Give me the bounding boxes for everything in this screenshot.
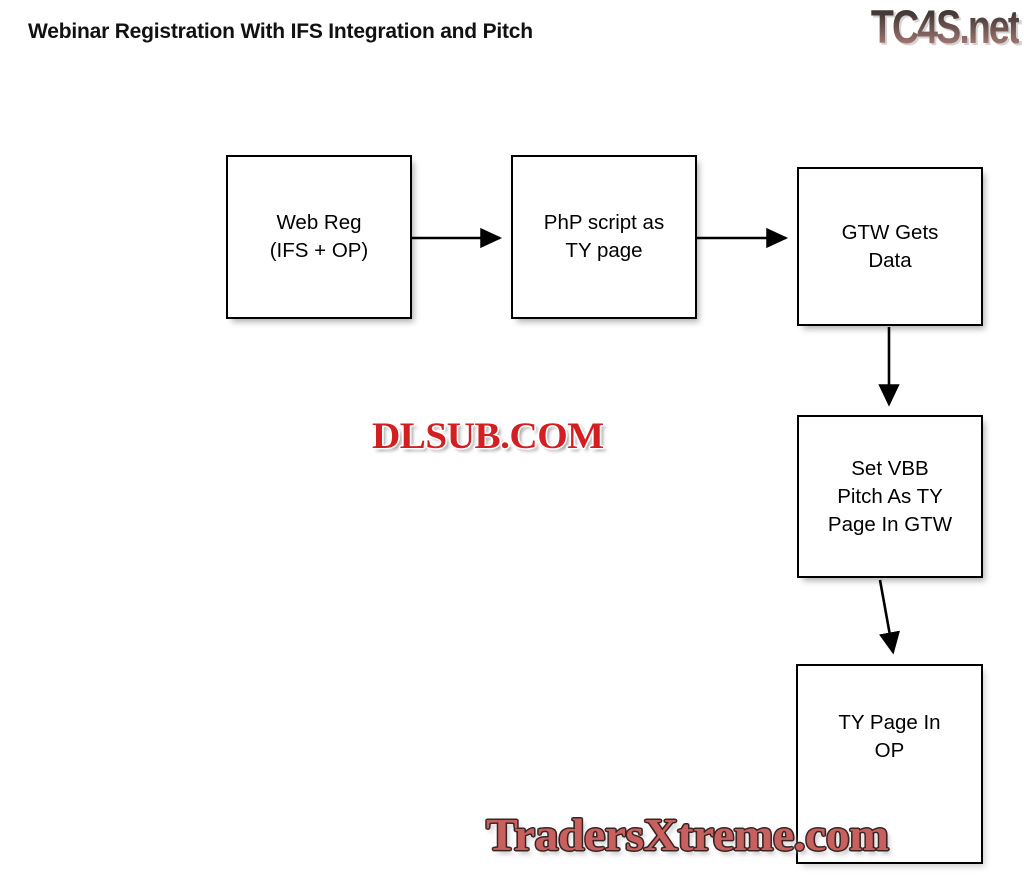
brand-logo: TC4S.net: [870, 1, 1018, 53]
diagram-canvas: Webinar Registration With IFS Integratio…: [0, 0, 1024, 877]
flow-node-label: Web Reg (IFS + OP): [264, 209, 375, 265]
flow-node-set-vbb-pitch[interactable]: Set VBB Pitch As TY Page In GTW: [797, 415, 983, 578]
watermark-tradersxtreme: TradersXtreme.com: [486, 806, 888, 864]
page-title: Webinar Registration With IFS Integratio…: [28, 20, 533, 44]
flow-node-web-reg[interactable]: Web Reg (IFS + OP): [226, 155, 412, 319]
flow-node-label: PhP script as TY page: [538, 209, 670, 265]
flow-node-label: Set VBB Pitch As TY Page In GTW: [822, 455, 958, 539]
flow-node-php-script[interactable]: PhP script as TY page: [511, 155, 697, 319]
flow-node-gtw-gets-data[interactable]: GTW Gets Data: [797, 167, 983, 326]
flow-node-label: TY Page In OP: [832, 709, 946, 765]
edge-setvbb-to-typage: [880, 580, 893, 652]
flow-node-label: GTW Gets Data: [836, 219, 945, 275]
watermark-dlsub: DLSUB.COM: [372, 415, 604, 459]
